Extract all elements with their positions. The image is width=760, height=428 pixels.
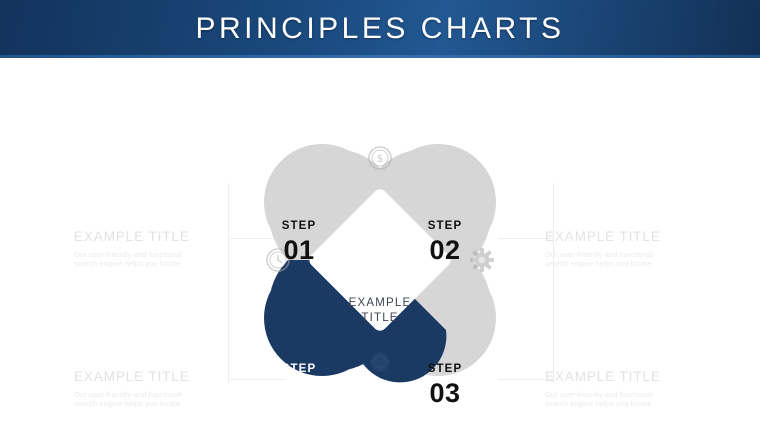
callout-top-left-body-line2: search engine helps you locate <box>74 259 224 269</box>
dollar-coin-icon: $ <box>369 147 391 169</box>
callout-bottom-left-body-line1: Our user-friendly and functional <box>74 390 224 400</box>
pinwheel-diagram: $ <box>250 130 510 390</box>
callout-top-left: EXAMPLE TITLE Our user-friendly and func… <box>74 230 224 269</box>
diagram-stage: $ <box>0 58 760 428</box>
callout-bottom-right-body-line1: Our user-friendly and functional <box>545 390 695 400</box>
clock-icon <box>267 249 289 271</box>
callout-bottom-left: EXAMPLE TITLE Our user-friendly and func… <box>74 370 224 409</box>
page-title: PRINCIPLES CHARTS <box>195 14 564 44</box>
callout-bottom-left-body-line2: search engine helps you locate <box>74 399 224 409</box>
callout-top-right-title: EXAMPLE TITLE <box>545 230 695 244</box>
callout-top-right: EXAMPLE TITLE Our user-friendly and func… <box>545 230 695 269</box>
callout-top-left-title: EXAMPLE TITLE <box>74 230 224 244</box>
callout-top-right-body-line2: search engine helps you locate <box>545 259 695 269</box>
svg-text:$: $ <box>377 153 383 165</box>
callout-bottom-right: EXAMPLE TITLE Our user-friendly and func… <box>545 370 695 409</box>
callout-bottom-left-title: EXAMPLE TITLE <box>74 370 224 384</box>
gear-icon <box>470 248 494 272</box>
callout-bottom-right-title: EXAMPLE TITLE <box>545 370 695 384</box>
slide-canvas: PRINCIPLES CHARTS <box>0 0 760 428</box>
circle-icon <box>371 353 390 372</box>
callout-bottom-right-body-line2: search engine helps you locate <box>545 399 695 409</box>
callout-top-left-body-line1: Our user-friendly and functional <box>74 250 224 260</box>
slide-header: PRINCIPLES CHARTS <box>0 0 760 58</box>
callout-top-right-body-line1: Our user-friendly and functional <box>545 250 695 260</box>
